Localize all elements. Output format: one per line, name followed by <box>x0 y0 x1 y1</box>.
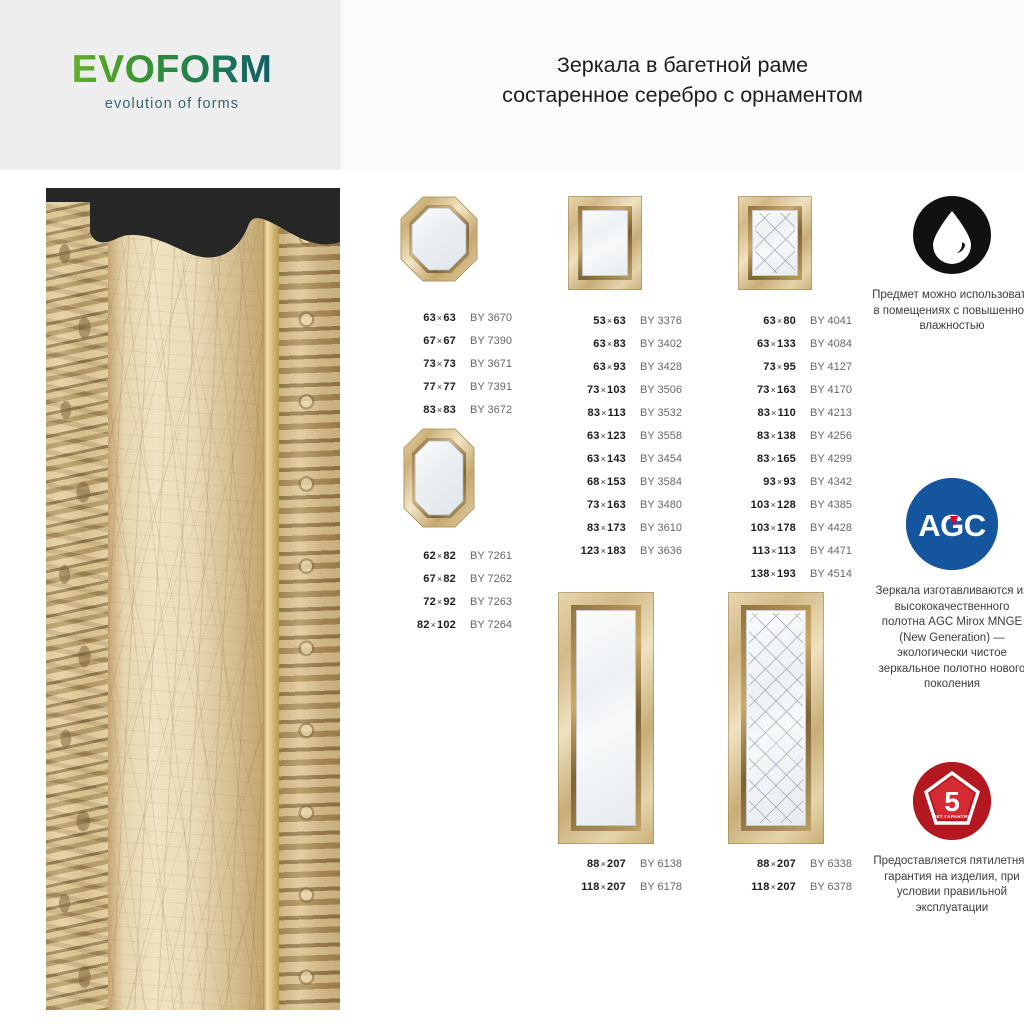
size-dimensions: 82×102 <box>386 619 456 631</box>
size-dimensions: 103×178 <box>726 522 796 534</box>
size-row[interactable]: 83×110BY 4213 <box>726 407 886 430</box>
size-dimensions: 88×207 <box>556 858 626 870</box>
size-row[interactable]: 63×143BY 3454 <box>556 453 706 476</box>
size-row[interactable]: 73×103BY 3506 <box>556 384 706 407</box>
brand-logo: EVOFORM evolution of forms <box>62 50 282 112</box>
mirror-glass <box>576 610 636 826</box>
size-dimensions: 63×133 <box>726 338 796 350</box>
size-row[interactable]: 93×93BY 4342 <box>726 476 886 499</box>
page-title-line2: состаренное серебро с орнаментом <box>341 80 1024 110</box>
size-article-code: BY 3671 <box>456 358 512 370</box>
mirror-thumbnail-rect-grid[interactable] <box>738 196 812 290</box>
size-row[interactable]: 73×163BY 4170 <box>726 384 886 407</box>
diamond-grid-pattern-icon <box>755 213 795 273</box>
size-dimensions: 53×63 <box>556 315 626 327</box>
size-row[interactable]: 72×92BY 7263 <box>386 596 536 619</box>
size-dimensions: 63×80 <box>726 315 796 327</box>
frame-profile-silhouette-icon <box>46 188 340 308</box>
size-dimensions: 113×113 <box>726 545 796 557</box>
size-article-code: BY 4084 <box>796 338 852 350</box>
size-article-code: BY 4256 <box>796 430 852 442</box>
info-block-humidity: Предмет можно использовать в помещениях … <box>872 196 1024 335</box>
size-row[interactable]: 67×67BY 7390 <box>386 335 536 358</box>
size-article-code: BY 4170 <box>796 384 852 396</box>
size-article-code: BY 4041 <box>796 315 852 327</box>
size-dimensions: 68×153 <box>556 476 626 488</box>
size-dimensions: 103×128 <box>726 499 796 511</box>
size-article-code: BY 3480 <box>626 499 682 511</box>
size-article-code: BY 3376 <box>626 315 682 327</box>
info-text-agc: Зеркала изготавливаются из высококачеств… <box>872 584 1024 693</box>
svg-text:AGC: AGC <box>918 508 986 543</box>
warranty-sublabel: ЛЕТ ГАРАНТИИ <box>933 814 971 819</box>
size-row[interactable]: 118×207BY 6378 <box>726 881 886 904</box>
logo-wordmark: EVOFORM <box>62 50 282 89</box>
size-dimensions: 123×183 <box>556 545 626 557</box>
size-dimensions: 93×93 <box>726 476 796 488</box>
title-panel: Зеркала в багетной раме состаренное сере… <box>341 0 1024 170</box>
size-dimensions: 62×82 <box>386 550 456 562</box>
size-article-code: BY 7262 <box>456 573 512 585</box>
page-title-line1: Зеркала в багетной раме <box>341 50 1024 80</box>
size-article-code: BY 3428 <box>626 361 682 373</box>
diamond-grid-pattern-icon <box>749 613 803 823</box>
size-article-code: BY 4342 <box>796 476 852 488</box>
frame-ornament-left <box>46 188 108 1010</box>
size-row[interactable]: 73×163BY 3480 <box>556 499 706 522</box>
size-article-code: BY 4385 <box>796 499 852 511</box>
size-dimensions: 63×143 <box>556 453 626 465</box>
size-article-code: BY 4471 <box>796 545 852 557</box>
mirror-thumbnail-octagon-square[interactable] <box>400 196 478 282</box>
size-dimensions: 83×110 <box>726 407 796 419</box>
size-article-code: BY 4428 <box>796 522 852 534</box>
size-dimensions: 73×163 <box>726 384 796 396</box>
water-drop-glyph <box>913 196 991 274</box>
size-row[interactable]: 118×207BY 6178 <box>556 881 706 904</box>
size-row[interactable]: 83×83BY 3672 <box>386 404 536 427</box>
agc-logo-icon: AGC <box>906 478 998 570</box>
size-article-code: BY 3402 <box>626 338 682 350</box>
size-list-tall-plain: 88×207BY 6138 118×207BY 6178 <box>556 858 706 904</box>
size-article-code: BY 3454 <box>626 453 682 465</box>
size-row[interactable]: 83×113BY 3532 <box>556 407 706 430</box>
mirror-glass <box>582 210 628 276</box>
size-row[interactable]: 123×183BY 3636 <box>556 545 706 568</box>
product-group-rect-grid: 63×80BY 4041 63×133BY 4084 73×95BY 4127 … <box>726 196 886 591</box>
logo-panel: EVOFORM evolution of forms <box>0 0 341 170</box>
size-dimensions: 73×163 <box>556 499 626 511</box>
size-row[interactable]: 53×63BY 3376 <box>556 315 706 338</box>
size-row[interactable]: 73×95BY 4127 <box>726 361 886 384</box>
size-dimensions: 83×138 <box>726 430 796 442</box>
size-row[interactable]: 77×77BY 7391 <box>386 381 536 404</box>
size-dimensions: 138×193 <box>726 568 796 580</box>
size-dimensions: 83×113 <box>556 407 626 419</box>
octagon-mirror-icon <box>400 196 478 282</box>
size-dimensions: 67×82 <box>386 573 456 585</box>
size-row[interactable]: 88×207BY 6138 <box>556 858 706 881</box>
warranty-badge-glyph: 5 ЛЕТ ГАРАНТИИ <box>913 762 991 840</box>
mirror-thumbnail-rect-plain[interactable] <box>568 196 642 290</box>
size-dimensions: 67×67 <box>386 335 456 347</box>
frame-ornament-right <box>279 188 340 1010</box>
octagon-tall-mirror-icon <box>403 428 475 528</box>
size-row[interactable]: 88×207BY 6338 <box>726 858 886 881</box>
size-row[interactable]: 83×165BY 4299 <box>726 453 886 476</box>
frame-main-crackle-surface <box>108 188 263 1010</box>
product-group-tall-plain: 88×207BY 6138 118×207BY 6178 <box>556 592 706 904</box>
size-article-code: BY 4514 <box>796 568 852 580</box>
size-article-code: BY 3532 <box>626 407 682 419</box>
info-text-warranty: Предоставляется пятилетняя гарантия на и… <box>872 854 1024 916</box>
size-article-code: BY 3670 <box>456 312 512 324</box>
size-dimensions: 63×123 <box>556 430 626 442</box>
size-article-code: BY 4127 <box>796 361 852 373</box>
size-dimensions: 88×207 <box>726 858 796 870</box>
page-title: Зеркала в багетной раме состаренное сере… <box>341 50 1024 110</box>
size-row[interactable]: 63×63BY 3670 <box>386 312 536 335</box>
size-article-code: BY 3610 <box>626 522 682 534</box>
size-dimensions: 73×103 <box>556 384 626 396</box>
size-article-code: BY 6378 <box>796 881 852 893</box>
info-block-agc: AGC Зеркала изготавливаются из высококач… <box>872 478 1024 693</box>
warranty-5-years-icon: 5 ЛЕТ ГАРАНТИИ <box>913 762 991 840</box>
size-dimensions: 118×207 <box>726 881 796 893</box>
size-row[interactable]: 67×82BY 7262 <box>386 573 536 596</box>
size-row[interactable]: 82×102BY 7264 <box>386 619 536 642</box>
agc-logo-glyph: AGC <box>906 478 998 570</box>
size-list-octagon-square: 63×63BY 3670 67×67BY 7390 73×73BY 3671 7… <box>386 312 536 427</box>
size-dimensions: 83×173 <box>556 522 626 534</box>
size-article-code: BY 7263 <box>456 596 512 608</box>
size-article-code: BY 4213 <box>796 407 852 419</box>
product-group-rect-plain: 53×63BY 3376 63×83BY 3402 63×93BY 3428 7… <box>556 196 706 568</box>
size-article-code: BY 6178 <box>626 881 682 893</box>
size-row[interactable]: 113×113BY 4471 <box>726 545 886 568</box>
size-row[interactable]: 83×173BY 3610 <box>556 522 706 545</box>
size-article-code: BY 3672 <box>456 404 512 416</box>
size-article-code: BY 7391 <box>456 381 512 393</box>
size-dimensions: 73×73 <box>386 358 456 370</box>
water-drop-icon <box>913 196 991 274</box>
logo-tagline: evolution of forms <box>62 96 282 112</box>
size-list-rect-grid: 63×80BY 4041 63×133BY 4084 73×95BY 4127 … <box>726 315 886 591</box>
info-text-humidity: Предмет можно использовать в помещениях … <box>872 288 1024 335</box>
size-article-code: BY 4299 <box>796 453 852 465</box>
page-header: EVOFORM evolution of forms Зеркала в баг… <box>0 0 1024 170</box>
mirror-thumbnail-tall-grid[interactable] <box>728 592 824 844</box>
size-article-code: BY 7261 <box>456 550 512 562</box>
size-dimensions: 73×95 <box>726 361 796 373</box>
size-row[interactable]: 68×153BY 3584 <box>556 476 706 499</box>
size-dimensions: 118×207 <box>556 881 626 893</box>
mirror-thumbnail-octagon-tall[interactable] <box>403 428 475 528</box>
size-row[interactable]: 63×80BY 4041 <box>726 315 886 338</box>
size-row[interactable]: 63×133BY 4084 <box>726 338 886 361</box>
size-dimensions: 63×63 <box>386 312 456 324</box>
size-list-octagon-tall: 62×82BY 7261 67×82BY 7262 72×92BY 7263 8… <box>386 550 536 642</box>
size-article-code: BY 3636 <box>626 545 682 557</box>
size-row[interactable]: 63×83BY 3402 <box>556 338 706 361</box>
size-article-code: BY 6338 <box>796 858 852 870</box>
size-article-code: BY 3584 <box>626 476 682 488</box>
warranty-number: 5 <box>944 786 960 817</box>
frame-gold-fillet <box>263 188 279 1010</box>
size-row[interactable]: 83×138BY 4256 <box>726 430 886 453</box>
mirror-glass-faceted <box>746 610 806 826</box>
product-group-octagon-square: 63×63BY 3670 67×67BY 7390 73×73BY 3671 7… <box>386 196 536 427</box>
size-dimensions: 83×83 <box>386 404 456 416</box>
size-article-code: BY 7390 <box>456 335 512 347</box>
product-group-tall-grid: 88×207BY 6338 118×207BY 6378 <box>726 592 886 904</box>
size-row[interactable]: 63×123BY 3558 <box>556 430 706 453</box>
size-row[interactable]: 62×82BY 7261 <box>386 550 536 573</box>
mirror-thumbnail-tall-plain[interactable] <box>558 592 654 844</box>
size-dimensions: 63×83 <box>556 338 626 350</box>
size-row[interactable]: 103×178BY 4428 <box>726 522 886 545</box>
size-list-rect-plain: 53×63BY 3376 63×83BY 3402 63×93BY 3428 7… <box>556 315 706 568</box>
product-group-octagon-tall: 62×82BY 7261 67×82BY 7262 72×92BY 7263 8… <box>386 428 536 642</box>
size-article-code: BY 3558 <box>626 430 682 442</box>
size-article-code: BY 3506 <box>626 384 682 396</box>
info-block-warranty: 5 ЛЕТ ГАРАНТИИ Предоставляется пятилетня… <box>872 762 1024 916</box>
size-row[interactable]: 138×193BY 4514 <box>726 568 886 591</box>
size-dimensions: 77×77 <box>386 381 456 393</box>
size-row[interactable]: 63×93BY 3428 <box>556 361 706 384</box>
size-article-code: BY 7264 <box>456 619 512 631</box>
size-row[interactable]: 73×73BY 3671 <box>386 358 536 381</box>
size-article-code: BY 6138 <box>626 858 682 870</box>
mirror-glass-faceted <box>752 210 798 276</box>
size-dimensions: 83×165 <box>726 453 796 465</box>
size-list-tall-grid: 88×207BY 6338 118×207BY 6378 <box>726 858 886 904</box>
size-dimensions: 72×92 <box>386 596 456 608</box>
size-dimensions: 63×93 <box>556 361 626 373</box>
size-row[interactable]: 103×128BY 4385 <box>726 499 886 522</box>
frame-profile-photo <box>46 188 340 1010</box>
